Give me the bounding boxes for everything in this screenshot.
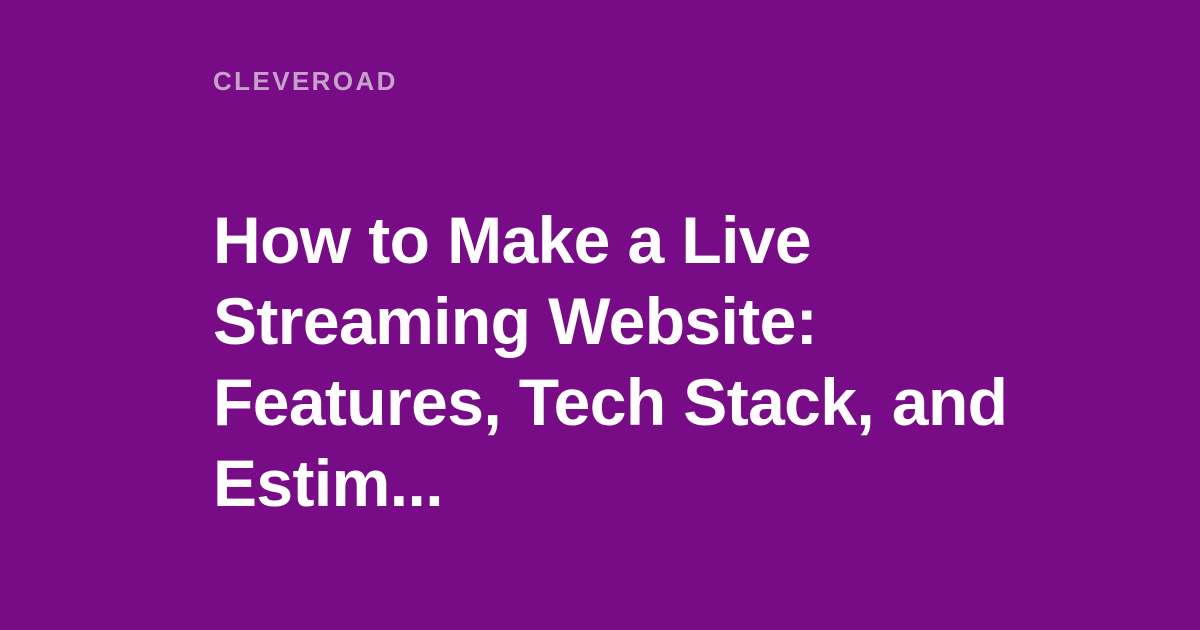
headline-line-2: Streaming Website: (213, 281, 973, 362)
headline-line-1: How to Make a Live (213, 200, 973, 281)
headline-line-3: Features, Tech Stack, and (213, 362, 973, 443)
headline-block: How to Make a Live Streaming Website: Fe… (213, 200, 973, 524)
brand-logo[interactable]: CLEVEROAD (213, 68, 398, 94)
page-title: How to Make a Live Streaming Website: Fe… (213, 200, 973, 524)
share-card: CLEVEROAD How to Make a Live Streaming W… (0, 0, 1200, 630)
headline-line-4: Estim... (213, 443, 973, 524)
